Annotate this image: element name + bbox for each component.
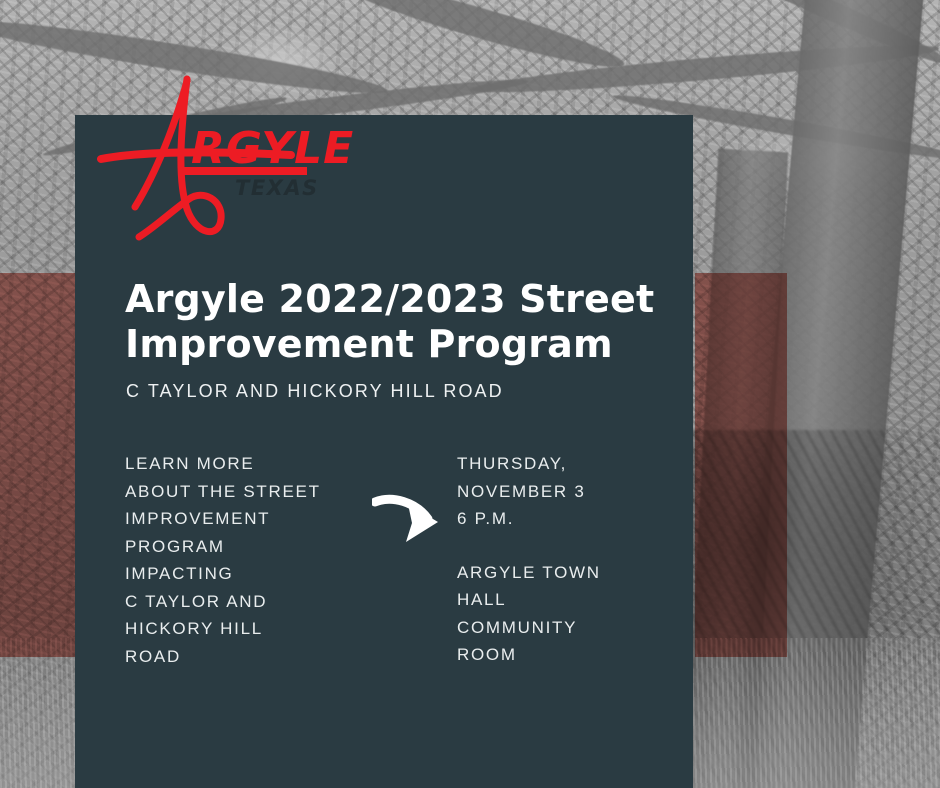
content-card: RGYLE TEXAS Argyle 2022/2023 Street Impr…: [75, 115, 693, 788]
logo-state: TEXAS: [235, 176, 319, 200]
curved-arrow-right-icon: [363, 450, 457, 550]
event-details: THURSDAY, NOVEMBER 3 6 P.M. ARGYLE TOWN …: [457, 450, 677, 669]
red-overlay-right: [695, 273, 787, 657]
subtitle-streets: C TAYLOR AND HICKORY HILL ROAD: [126, 381, 504, 402]
program-description: LEARN MORE ABOUT THE STREET IMPROVEMENT …: [125, 450, 363, 670]
poster-canvas: RGYLE TEXAS Argyle 2022/2023 Street Impr…: [0, 0, 940, 788]
event-location: ARGYLE TOWN HALL COMMUNITY ROOM: [457, 559, 677, 669]
logo-wordmark: RGYLE: [191, 123, 354, 174]
argyle-texas-logo: RGYLE TEXAS: [95, 67, 355, 247]
logo-rule: [181, 167, 307, 175]
body-columns: LEARN MORE ABOUT THE STREET IMPROVEMENT …: [125, 450, 685, 670]
tree-branch: [332, 0, 629, 79]
page-title: Argyle 2022/2023 Street Improvement Prog…: [125, 277, 665, 365]
event-datetime: THURSDAY, NOVEMBER 3 6 P.M.: [457, 450, 677, 533]
